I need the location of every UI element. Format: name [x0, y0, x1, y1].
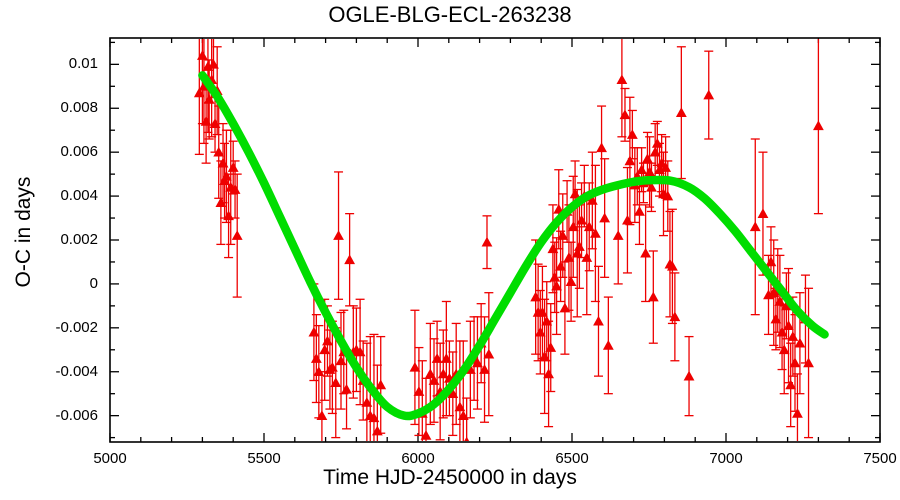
x-tick-label: 6000 [378, 450, 458, 467]
data-point-marker [311, 353, 322, 363]
data-point-marker [441, 353, 452, 363]
plot-area [0, 0, 900, 500]
data-point-marker [613, 230, 624, 240]
data-point-marker [333, 230, 344, 240]
data-point-marker [599, 213, 610, 223]
data-point-marker [574, 241, 585, 251]
data-point-marker [336, 355, 347, 365]
y-tick-label: -0.006 [28, 407, 98, 424]
data-point-marker [322, 336, 333, 346]
data-point-marker [703, 90, 714, 100]
data-marker-layer [194, 50, 824, 446]
x-tick-label: 5000 [70, 450, 150, 467]
errorbar-layer [195, 0, 823, 500]
data-point-marker [341, 384, 352, 394]
y-tick-label: -0.002 [28, 319, 98, 336]
axes-frame [110, 38, 880, 442]
data-point-marker [308, 327, 319, 337]
data-point-marker [750, 221, 761, 231]
data-point-marker [813, 120, 824, 130]
y-tick-label: 0.006 [28, 143, 98, 160]
y-tick-label: 0.004 [28, 187, 98, 204]
data-point-marker [197, 50, 208, 60]
data-point-marker [482, 237, 493, 247]
data-point-marker [625, 156, 636, 166]
data-point-marker [634, 206, 645, 216]
data-point-marker [644, 167, 655, 177]
x-tick-label: 7500 [840, 450, 900, 467]
y-tick-label: -0.004 [28, 363, 98, 380]
data-point-marker [228, 162, 239, 172]
data-point-marker [627, 129, 638, 139]
data-point-marker [530, 292, 541, 302]
data-point-marker [603, 340, 614, 350]
data-point-marker [640, 248, 651, 258]
y-tick-label: 0.008 [28, 99, 98, 116]
data-point-marker [317, 410, 328, 420]
x-tick-label: 5500 [224, 450, 304, 467]
data-point-marker [438, 369, 449, 379]
data-point-marker [622, 215, 633, 225]
y-tick-label: 0.002 [28, 231, 98, 248]
data-point-marker [792, 408, 803, 418]
data-point-marker [432, 353, 443, 363]
y-tick-label: 0 [28, 275, 98, 292]
fit-curve-layer [202, 75, 824, 416]
data-point-marker [648, 292, 659, 302]
fit-curve [202, 75, 824, 416]
plot-frame [110, 38, 880, 442]
y-tick-label: 0.01 [28, 55, 98, 72]
data-point-marker [684, 371, 695, 381]
data-point-marker [676, 107, 687, 117]
x-tick-label: 6500 [532, 450, 612, 467]
data-point-marker [616, 74, 627, 84]
chart-page: OGLE-BLG-ECL-263238 Time HJD-2450000 in … [0, 0, 900, 500]
data-point-marker [593, 316, 604, 326]
data-point-marker [766, 257, 777, 267]
data-point-marker [758, 208, 769, 218]
data-point-marker [596, 142, 607, 152]
data-point-marker [232, 230, 243, 240]
data-point-marker [319, 344, 330, 354]
x-tick-label: 7000 [686, 450, 766, 467]
data-point-marker [344, 254, 355, 264]
